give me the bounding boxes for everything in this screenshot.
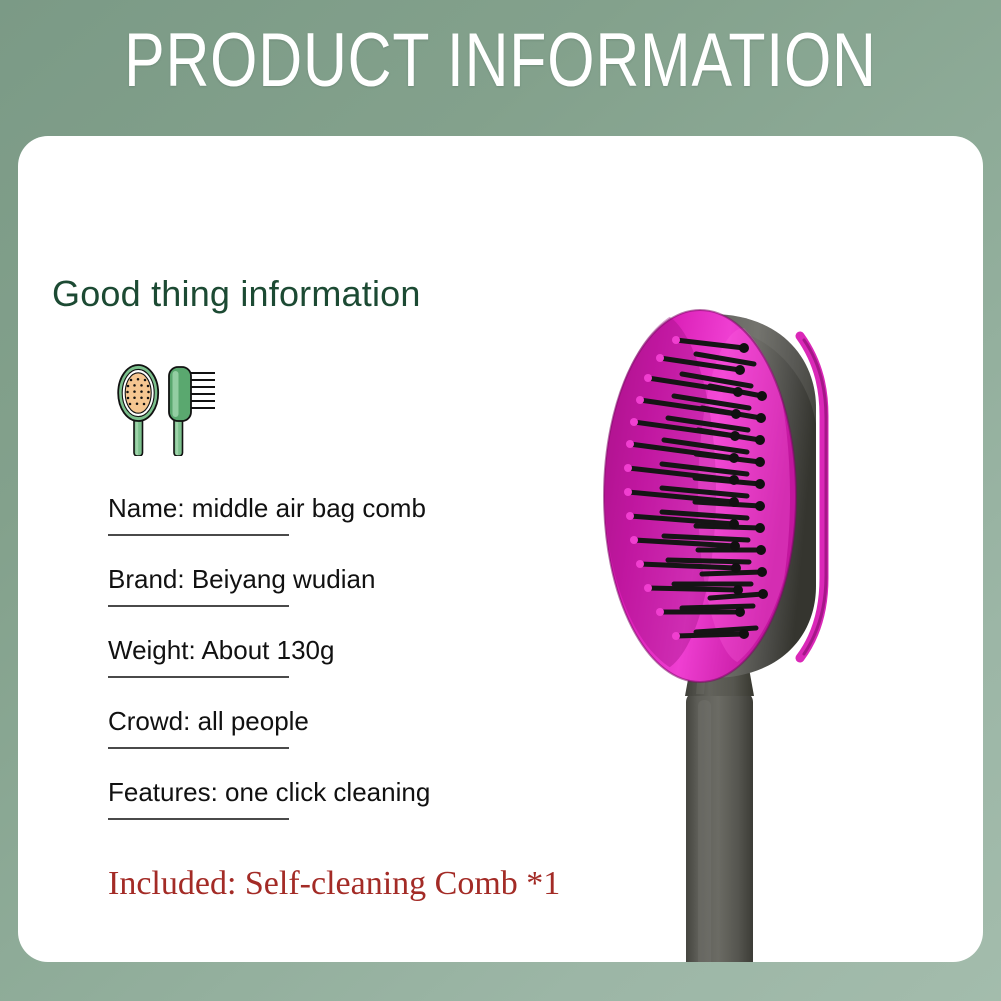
product-information-page: PRODUCT INFORMATION Good thing informati… <box>0 0 1001 1001</box>
spec-text: Brand: Beiyang wudian <box>108 565 375 595</box>
product-photo <box>548 296 968 962</box>
spec-list: Name: middle air bag comb Brand: Beiyang… <box>108 494 522 849</box>
page-title: PRODUCT INFORMATION <box>124 23 877 99</box>
spec-text: Features: one click cleaning <box>108 778 430 808</box>
spec-row-brand: Brand: Beiyang wudian <box>108 565 522 636</box>
spec-text: Name: middle air bag comb <box>108 494 426 524</box>
hair-brush-product-image <box>548 296 968 962</box>
spec-text: Crowd: all people <box>108 707 309 737</box>
info-column: Good thing information <box>52 276 522 902</box>
hairbrush-comb-icon <box>114 360 220 456</box>
spec-row-crowd: Crowd: all people <box>108 707 522 778</box>
spec-row-features: Features: one click cleaning <box>108 778 522 849</box>
header-banner: PRODUCT INFORMATION <box>0 0 1001 122</box>
spec-row-name: Name: middle air bag comb <box>108 494 522 565</box>
spec-divider <box>108 676 289 678</box>
spec-divider <box>108 534 289 536</box>
content-card: Good thing information <box>18 136 983 962</box>
spec-divider <box>108 818 289 820</box>
spec-divider <box>108 747 289 749</box>
included-line: Included: Self-cleaning Comb *1 <box>108 865 522 902</box>
section-heading: Good thing information <box>52 276 522 312</box>
spec-row-weight: Weight: About 130g <box>108 636 522 707</box>
spec-divider <box>108 605 289 607</box>
spec-text: Weight: About 130g <box>108 636 334 666</box>
